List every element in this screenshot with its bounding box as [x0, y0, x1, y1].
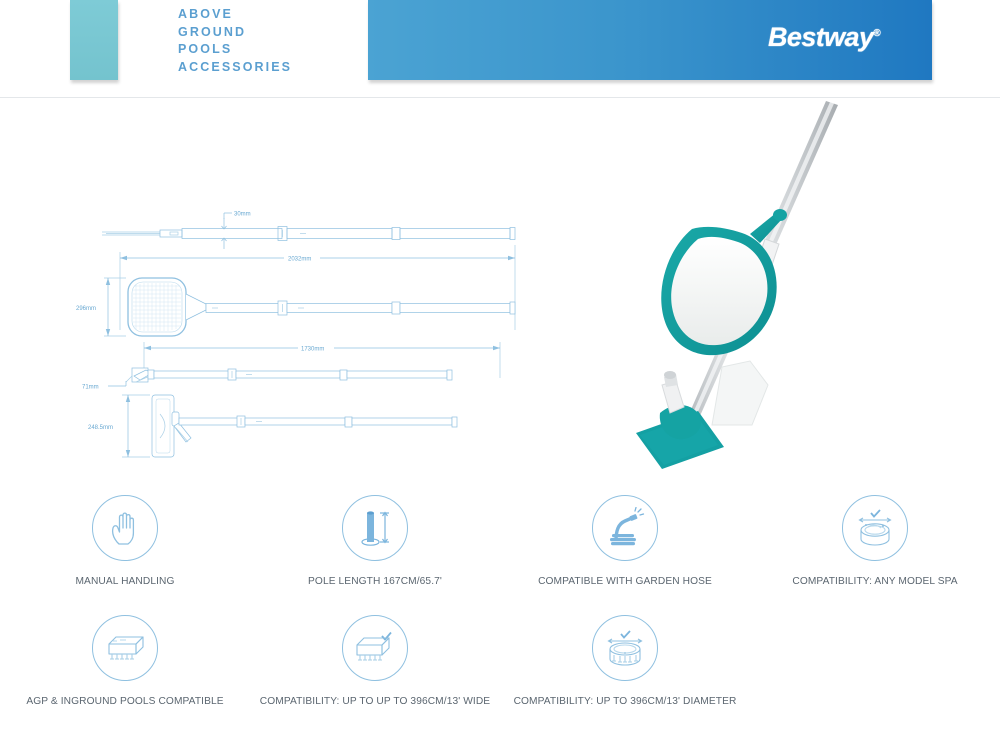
feature-label: COMPATIBILITY: UP TO 396CM/13' DIAMETER	[514, 696, 737, 707]
feature-label: COMPATIBLE WITH GARDEN HOSE	[538, 576, 712, 587]
feature-row-2-spacer	[750, 615, 1000, 733]
garden-hose-icon	[592, 495, 658, 561]
round-pool-check-icon	[592, 615, 658, 681]
feature-pole-length: POLE LENGTH 167CM/65.7'	[250, 495, 500, 613]
title-line-4: ACCESSORIES	[178, 59, 378, 77]
title-line-2: GROUND	[178, 24, 378, 42]
dim-label-pole-extended-length: 2032mm	[288, 257, 311, 263]
rectangular-pool-check-icon	[342, 615, 408, 681]
feature-label: AGP & INGROUND POOLS COMPATIBLE	[26, 696, 223, 707]
title-line-3: POOLS	[178, 41, 378, 59]
rectangular-pool-icon	[92, 615, 158, 681]
feature-icons: MANUAL HANDLING POLE LENGTH 167CM	[0, 495, 1000, 735]
feature-label: MANUAL HANDLING	[75, 576, 174, 587]
title-line-1: ABOVE	[178, 6, 378, 24]
dim-label-skimmer-net-width: 296mm	[76, 306, 96, 312]
feature-garden-hose: COMPATIBLE WITH GARDEN HOSE	[500, 495, 750, 613]
dim-label-vacuum-head-height: 71mm	[82, 385, 99, 391]
dim-label-pole-retracted-length: 1730mm	[301, 347, 324, 353]
feature-label: POLE LENGTH 167CM/65.7'	[308, 576, 442, 587]
page-title: ABOVE GROUND POOLS ACCESSORIES	[178, 6, 378, 76]
feature-label: COMPATIBILITY: ANY MODEL SPA	[792, 576, 957, 587]
feature-spa-compatibility: COMPATIBILITY: ANY MODEL SPA	[750, 495, 1000, 613]
spa-icon	[842, 495, 908, 561]
registered-trademark-icon: ®	[873, 28, 880, 39]
mesh-bag-photo	[712, 361, 768, 425]
feature-row-2: AGP & INGROUND POOLS COMPATIBLE COMPATIB…	[0, 615, 1000, 733]
page-header: ABOVE GROUND POOLS ACCESSORIES Bestway®	[0, 0, 1000, 100]
pole-length-icon	[342, 495, 408, 561]
bestway-logo: Bestway®	[768, 22, 880, 53]
product-photo	[600, 95, 920, 485]
feature-diameter-compatibility: COMPATIBILITY: UP TO 396CM/13' DIAMETER	[500, 615, 750, 733]
skimmer-net-photo	[661, 209, 787, 355]
brand-name: Bestway	[768, 22, 873, 52]
dim-label-pole-diameter: 30mm	[234, 212, 251, 218]
feature-width-compatibility: COMPATIBILITY: UP TO UP TO 396CM/13' WID…	[250, 615, 500, 733]
feature-agp-inground: AGP & INGROUND POOLS COMPATIBLE	[0, 615, 250, 733]
feature-manual-handling: MANUAL HANDLING	[0, 495, 250, 613]
product-spec-sheet: ABOVE GROUND POOLS ACCESSORIES Bestway®	[0, 0, 1000, 750]
dim-label-vacuum-head-width: 248.5mm	[88, 425, 113, 431]
technical-drawing: 30mm 2032mm	[60, 190, 560, 460]
feature-row-1: MANUAL HANDLING POLE LENGTH 167CM	[0, 495, 1000, 613]
feature-label: COMPATIBILITY: UP TO UP TO 396CM/13' WID…	[260, 696, 490, 707]
header-teal-block	[70, 0, 118, 80]
hand-icon	[92, 495, 158, 561]
